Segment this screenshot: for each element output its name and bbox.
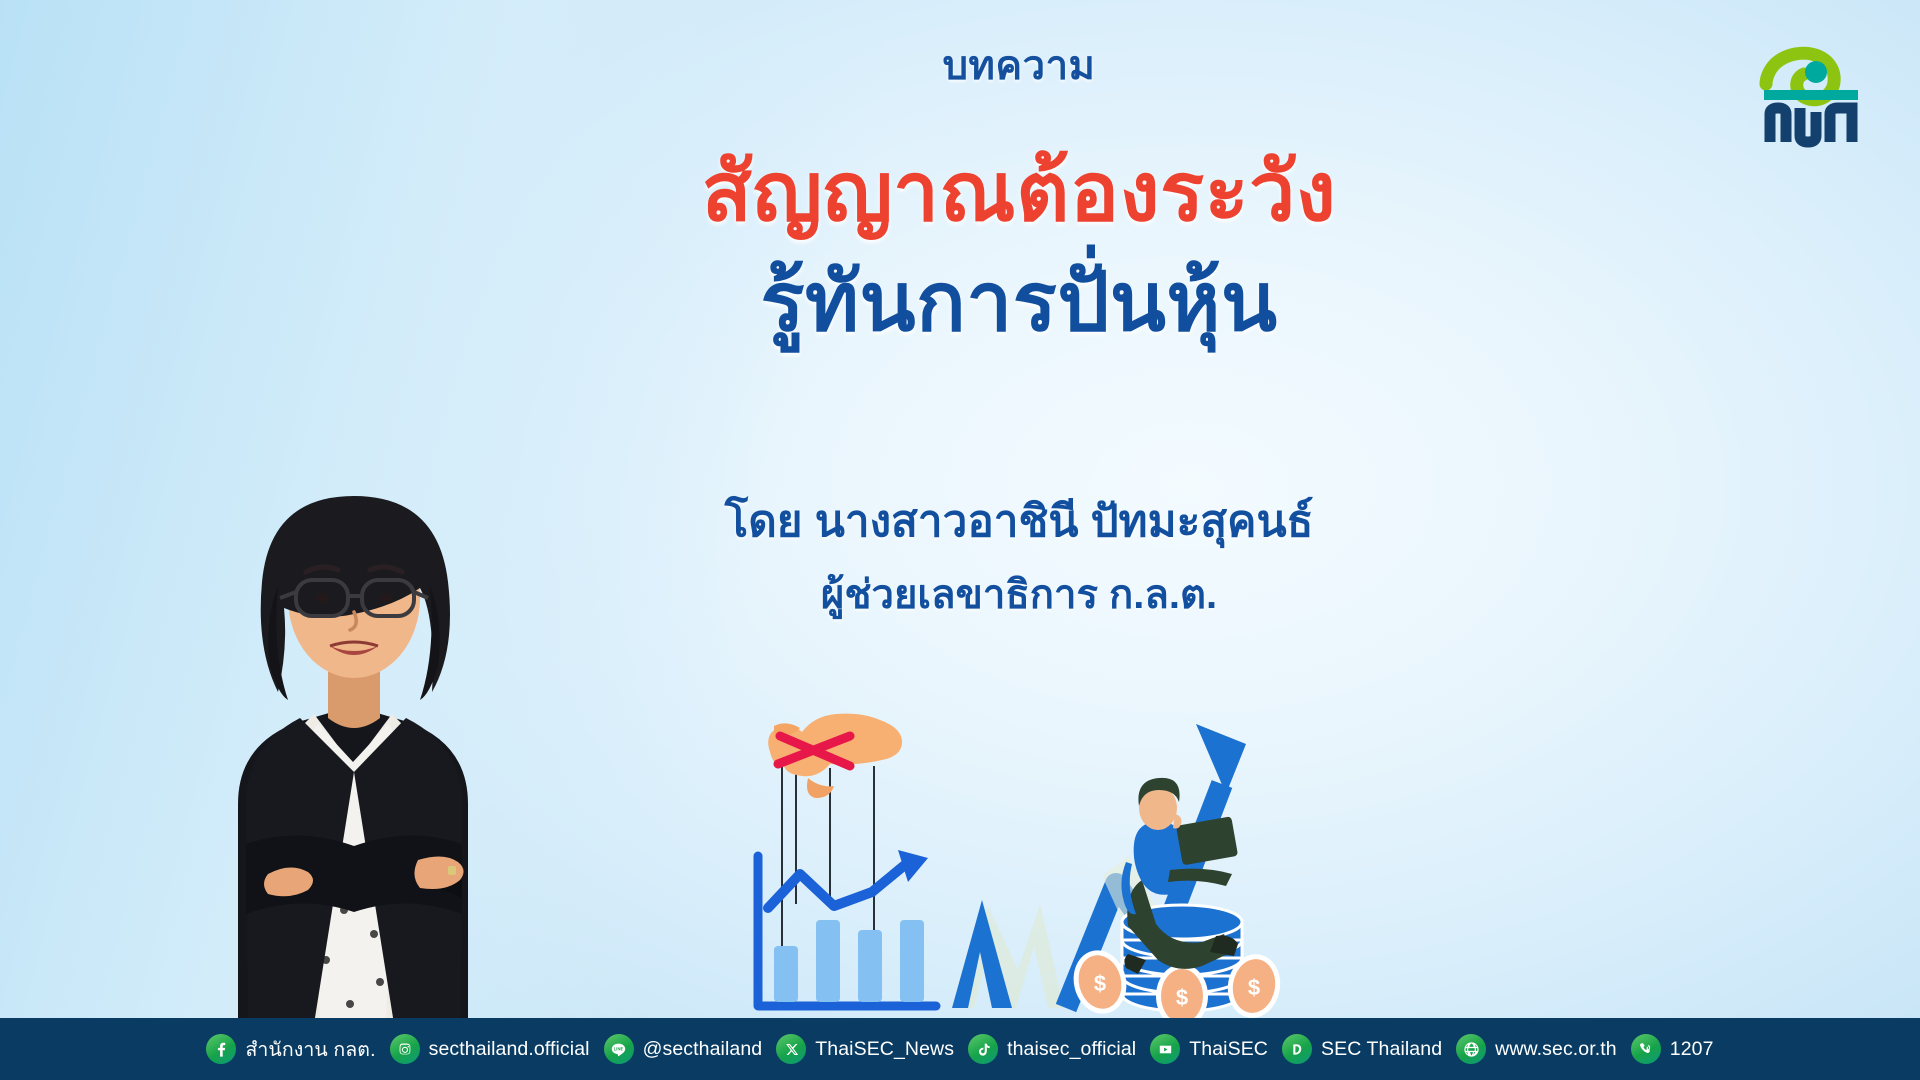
title-line-1: สัญญาณต้องระวัง (0, 152, 1920, 234)
footer-item-tiktok[interactable]: thaisec_official (968, 1034, 1136, 1064)
footer-item-website[interactable]: www.sec.or.th (1456, 1034, 1617, 1064)
footer-item-phone[interactable]: 1207 (1631, 1034, 1714, 1064)
line-icon (604, 1034, 634, 1064)
x-twitter-icon (776, 1034, 806, 1064)
blockdit-icon (1282, 1034, 1312, 1064)
instagram-icon (390, 1034, 420, 1064)
facebook-icon (206, 1034, 236, 1064)
footer-label-website: www.sec.or.th (1495, 1038, 1617, 1061)
footer-label-instagram: secthailand.official (429, 1038, 590, 1061)
footer-label-blockdit: SEC Thailand (1321, 1038, 1442, 1061)
stock-manipulation-illustration: $ $ $ (730, 708, 1370, 1038)
coin-symbol: $ (1094, 971, 1106, 996)
footer-label-facebook: สำนักงาน กลต. (245, 1034, 375, 1065)
uptrend-arrowhead-icon (1196, 724, 1246, 794)
footer-label-line: @secthailand (643, 1038, 763, 1061)
bar-chart-icon (774, 920, 924, 1002)
footer-label-x-twitter: ThaiSEC_News (815, 1038, 954, 1061)
footer-label-youtube: ThaiSEC (1189, 1038, 1268, 1061)
kicker-text: บทความ (0, 44, 1920, 88)
footer-label-tiktok: thaisec_official (1007, 1038, 1136, 1061)
footer-item-x-twitter[interactable]: ThaiSEC_News (776, 1034, 954, 1064)
footer-item-facebook[interactable]: สำนักงาน กลต. (206, 1034, 375, 1065)
svg-text:$: $ (1176, 985, 1188, 1010)
globe-icon (1456, 1034, 1486, 1064)
footer-item-blockdit[interactable]: SEC Thailand (1282, 1034, 1442, 1064)
footer-item-line[interactable]: @secthailand (604, 1034, 763, 1064)
tiktok-icon (968, 1034, 998, 1064)
svg-text:$: $ (1248, 975, 1260, 1000)
poster-canvas: กลต บทความ สัญญาณต้องระวัง รู้ทันการปั่น… (0, 0, 1920, 1080)
trend-line-icon (768, 864, 906, 908)
speaker-portrait (118, 374, 588, 1024)
social-footer-bar: สำนักงาน กลต. secthailand.official @sect… (0, 1018, 1920, 1080)
footer-label-phone: 1207 (1670, 1038, 1714, 1061)
phone-icon (1631, 1034, 1661, 1064)
youtube-icon (1150, 1034, 1180, 1064)
footer-item-youtube[interactable]: ThaiSEC (1150, 1034, 1268, 1064)
title-line-2: รู้ทันการปั่นหุ้น (0, 262, 1920, 344)
footer-item-instagram[interactable]: secthailand.official (390, 1034, 590, 1064)
